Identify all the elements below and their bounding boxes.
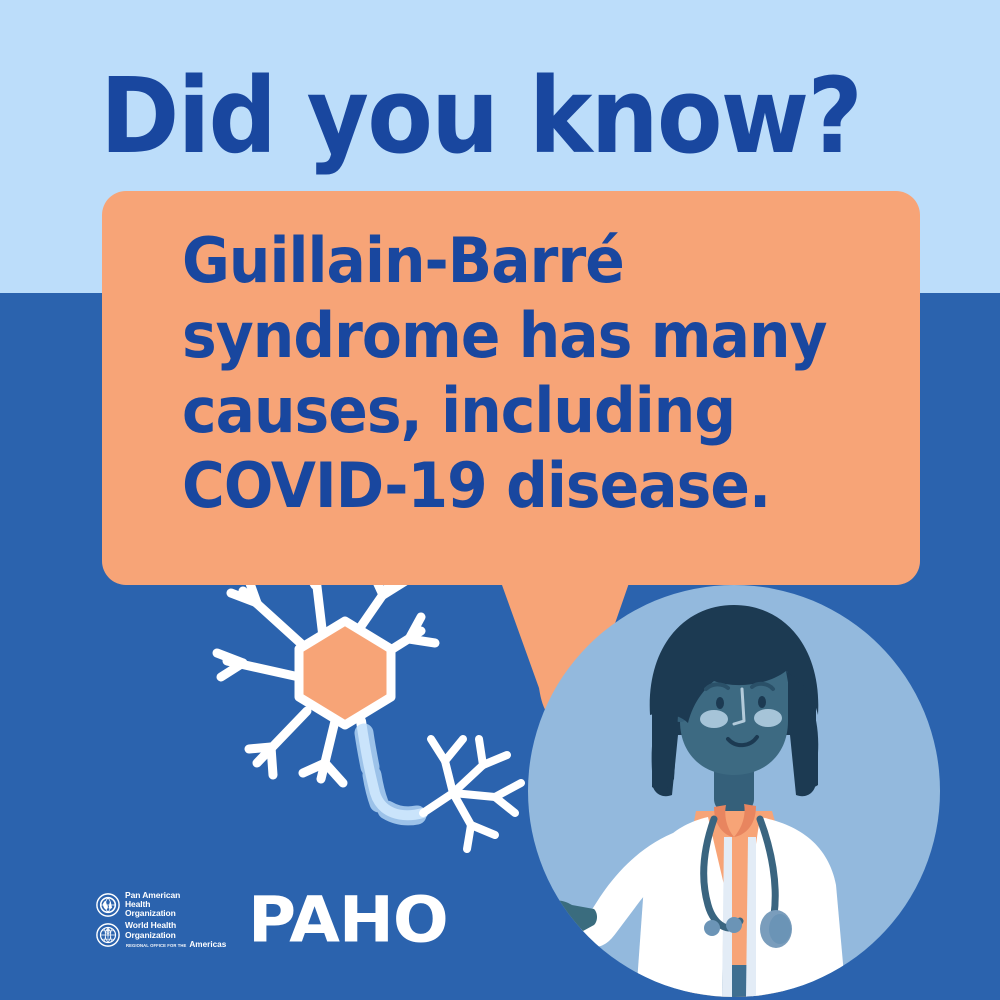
female-doctor-illustration <box>528 585 940 997</box>
who-line-2: Organization <box>125 931 226 940</box>
bubble-line-4: COVID-19 disease. <box>182 448 859 523</box>
paho-emblem-row: Pan American Health Organization <box>96 891 226 919</box>
logo-emblems: Pan American Health Organization <box>96 891 226 949</box>
doctor-eye-left <box>716 697 724 709</box>
bubble-line-3: causes, including <box>182 373 859 448</box>
stethoscope-earpiece-b <box>704 920 720 936</box>
paho-emblem-text: Pan American Health Organization <box>125 891 180 919</box>
who-emblem-icon <box>96 923 120 947</box>
neuron-myelin-sheath <box>364 733 417 816</box>
stethoscope-chestpiece-inner <box>769 914 791 944</box>
paho-logo: Pan American Health Organization <box>96 888 437 952</box>
who-region-line: REGIONAL OFFICE FOR THE Americas <box>126 941 226 949</box>
doctor-eye-right <box>758 696 766 708</box>
bubble-line-1: Guillain-Barré <box>182 223 859 298</box>
paho-line-3: Organization <box>125 909 180 918</box>
paho-globe-icon <box>96 893 120 917</box>
doctor-blush-left <box>700 710 728 728</box>
who-emblem-row: World Health Organization REGIONAL OFFIC… <box>96 921 226 949</box>
bubble-line-2: syndrome has many <box>182 298 859 373</box>
paho-wordmark: PAHO <box>248 888 448 951</box>
who-emblem-text: World Health Organization REGIONAL OFFIC… <box>125 921 226 949</box>
who-region-name: Americas <box>189 941 226 949</box>
doctor-blush-right <box>754 709 782 727</box>
infographic-canvas: Did you know? <box>0 0 1000 1000</box>
who-region-prefix: REGIONAL OFFICE FOR THE <box>126 943 186 948</box>
speech-bubble: Guillain-Barré syndrome has many causes,… <box>102 191 920 585</box>
page-title: Did you know? <box>100 62 854 170</box>
neuron-soma <box>299 621 391 725</box>
doctor-svg <box>528 585 940 997</box>
stethoscope-earpiece-a <box>726 917 742 933</box>
speech-bubble-text: Guillain-Barré syndrome has many causes,… <box>182 223 859 523</box>
